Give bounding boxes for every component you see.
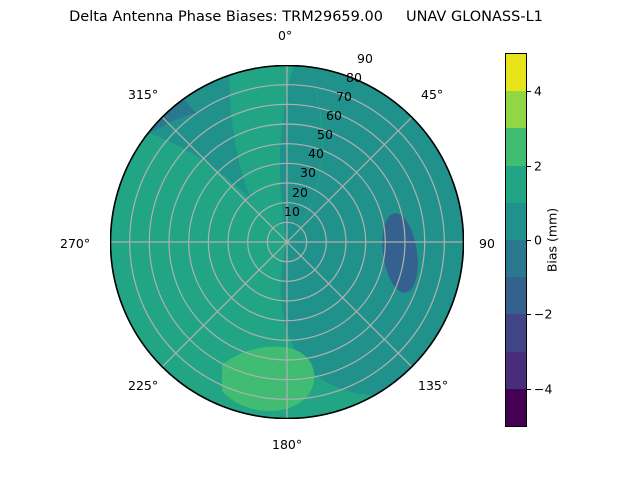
theta-tick-label-45: 45° xyxy=(421,87,443,102)
colorbar-band-6 xyxy=(506,277,526,314)
theta-tick-label-315: 315° xyxy=(128,87,158,102)
r-tick-label-80: 80 xyxy=(346,70,362,85)
colorbar-gradient xyxy=(505,53,527,427)
polar-plot[interactable]: 10 20 30 40 50 60 70 80 90 xyxy=(110,65,464,419)
colorbar-ticklabel-3: −2 xyxy=(534,307,552,322)
colorbar-band-7 xyxy=(506,314,526,351)
theta-tick-label-180: 180° xyxy=(272,437,302,452)
colorbar-band-4 xyxy=(506,203,526,240)
colorbar[interactable]: 420−2−4 xyxy=(505,53,527,427)
colorbar-tick-4 xyxy=(527,389,531,390)
r-tick-label-70: 70 xyxy=(336,89,352,104)
colorbar-tick-2 xyxy=(527,240,531,241)
colorbar-band-1 xyxy=(506,91,526,128)
r-tick-label-10: 10 xyxy=(284,204,300,219)
r-tick-label-30: 30 xyxy=(300,165,316,180)
r-tick-label-90: 90 xyxy=(357,51,373,66)
polar-contour-svg xyxy=(110,65,464,419)
page-title: Delta Antenna Phase Biases: TRM29659.00 … xyxy=(0,8,612,26)
polar-grid-spokes xyxy=(110,65,464,419)
figure-canvas: Delta Antenna Phase Biases: TRM29659.00 … xyxy=(0,0,640,480)
theta-tick-label-270: 270° xyxy=(60,236,90,251)
colorbar-ticklabel-2: 0 xyxy=(534,233,542,248)
colorbar-band-2 xyxy=(506,128,526,165)
colorbar-ticklabel-1: 2 xyxy=(534,158,542,173)
r-tick-label-20: 20 xyxy=(292,185,308,200)
colorbar-tick-1 xyxy=(527,166,531,167)
theta-tick-label-0: 0° xyxy=(278,28,292,43)
colorbar-band-8 xyxy=(506,352,526,389)
theta-tick-label-90: 90 xyxy=(479,236,495,251)
colorbar-axis-label: Bias (mm) xyxy=(545,208,560,272)
colorbar-ticklabel-0: 4 xyxy=(534,84,542,99)
r-tick-label-40: 40 xyxy=(308,146,324,161)
colorbar-tick-0 xyxy=(527,91,531,92)
theta-tick-label-135: 135° xyxy=(418,378,448,393)
r-tick-label-60: 60 xyxy=(326,108,342,123)
colorbar-band-3 xyxy=(506,166,526,203)
r-tick-label-50: 50 xyxy=(317,127,333,142)
theta-tick-label-225: 225° xyxy=(128,378,158,393)
colorbar-tick-3 xyxy=(527,314,531,315)
colorbar-band-0 xyxy=(506,54,526,91)
colorbar-band-5 xyxy=(506,240,526,277)
colorbar-band-9 xyxy=(506,389,526,426)
colorbar-ticklabel-4: −4 xyxy=(534,381,552,396)
